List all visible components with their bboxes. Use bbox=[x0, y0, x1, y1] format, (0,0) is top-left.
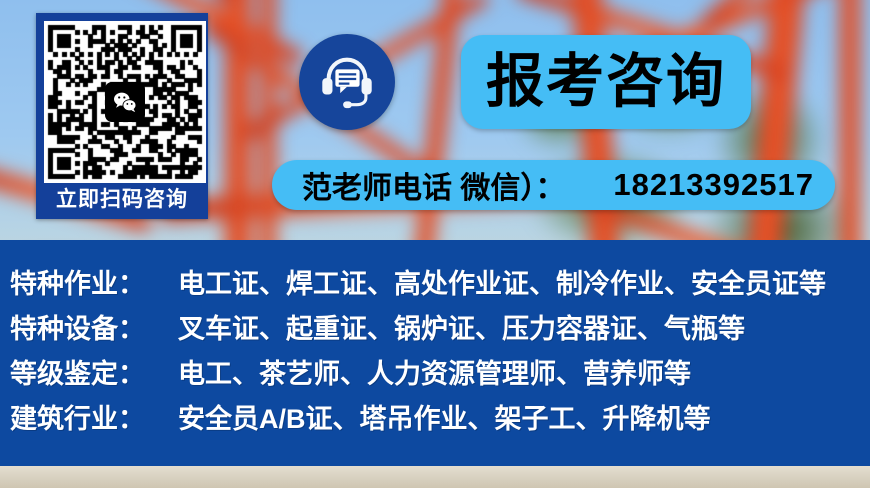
service-row: 特种设备： 叉车证、起重证、锅炉证、压力容器证、气瓶等 bbox=[0, 307, 870, 352]
promo-poster: 立即扫码咨询 报考咨询 bbox=[0, 0, 870, 488]
service-row: 特种作业： 电工证、焊工证、高处作业证、制冷作业、安全员证等 bbox=[0, 262, 870, 307]
service-label: 特种作业： bbox=[10, 262, 178, 301]
service-label: 等级鉴定： bbox=[10, 352, 178, 391]
contact-pill[interactable]: 范老师电话 微信）： 18213392517 bbox=[272, 160, 835, 210]
service-value: 安全员A/B证、塔吊作业、架子工、升降机等 bbox=[178, 397, 711, 436]
headset-support-badge bbox=[299, 34, 395, 130]
wechat-icon bbox=[105, 82, 145, 122]
title-pill: 报考咨询 bbox=[461, 35, 751, 129]
qr-code-image[interactable] bbox=[44, 21, 206, 183]
service-row: 建筑行业： 安全员A/B证、塔吊作业、架子工、升降机等 bbox=[0, 397, 870, 442]
service-row: 等级鉴定： 电工、茶艺师、人力资源管理师、营养师等 bbox=[0, 352, 870, 397]
headset-support-icon bbox=[316, 49, 378, 116]
qr-caption: 立即扫码咨询 bbox=[44, 183, 200, 217]
page-title: 报考咨询 bbox=[486, 53, 726, 111]
contact-label: 范老师电话 微信）： bbox=[302, 163, 565, 207]
service-value: 电工证、焊工证、高处作业证、制冷作业、安全员证等 bbox=[178, 262, 826, 301]
contact-phone-number[interactable]: 18213392517 bbox=[613, 167, 814, 203]
service-value: 电工、茶艺师、人力资源管理师、营养师等 bbox=[178, 352, 691, 391]
services-panel: 特种作业： 电工证、焊工证、高处作业证、制冷作业、安全员证等 特种设备： 叉车证… bbox=[0, 240, 870, 466]
qr-code-card[interactable]: 立即扫码咨询 bbox=[36, 13, 208, 219]
service-value: 叉车证、起重证、锅炉证、压力容器证、气瓶等 bbox=[178, 307, 745, 346]
service-label: 特种设备： bbox=[10, 307, 178, 346]
service-label: 建筑行业： bbox=[10, 397, 178, 436]
